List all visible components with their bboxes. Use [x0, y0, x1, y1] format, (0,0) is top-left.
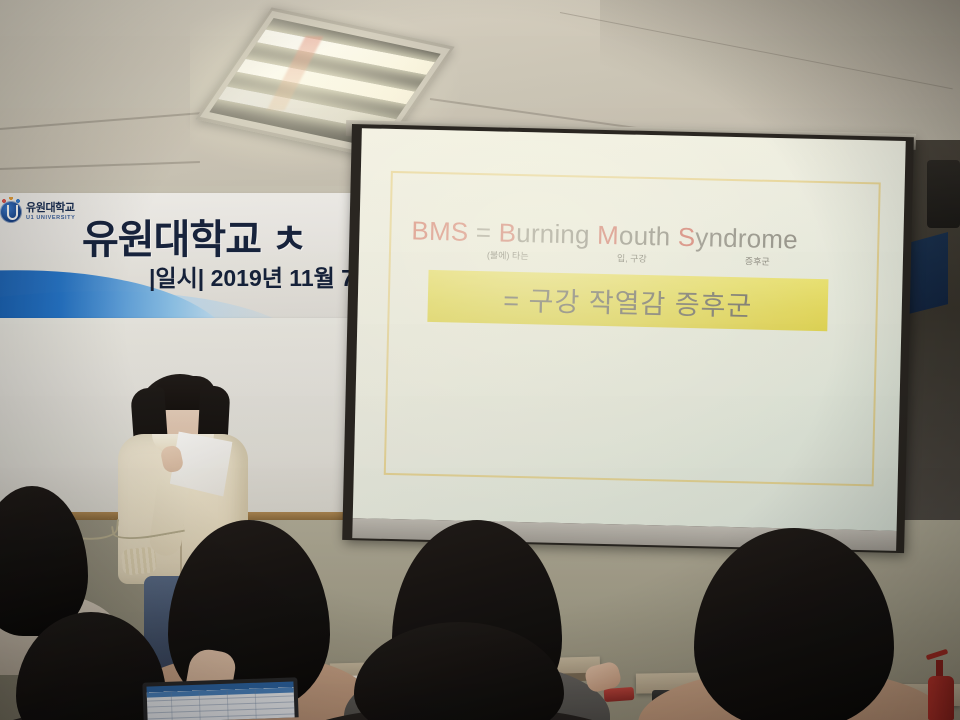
slide-word2-rest: outh [619, 220, 671, 251]
spreadsheet-col [227, 691, 229, 720]
slide-word1-cap: B [498, 217, 516, 247]
slide-word3-rest: yndrome [695, 222, 798, 254]
desk-red-object [604, 687, 635, 702]
audience-hair [354, 622, 564, 720]
university-emblem-icon [0, 201, 22, 223]
laptop-screen[interactable] [146, 681, 294, 720]
spreadsheet-row [147, 707, 294, 713]
slide-equals: = [476, 217, 492, 247]
logo-dots-icon [2, 197, 20, 205]
slide-abbr: BMS [411, 215, 469, 246]
laptop-lid [142, 677, 298, 720]
slide-highlight-text: = 구강 작열감 증후군 [427, 270, 828, 331]
banner-date: |일시| 2019년 11월 7일 [149, 259, 370, 293]
banner-title: 유원대학교 ㅊ [82, 207, 307, 265]
wall-speaker [927, 160, 960, 228]
slide-word3-cap: S [677, 222, 695, 252]
blue-wall-panel [906, 232, 948, 314]
slide-annotation-3: 증후군 [745, 254, 770, 268]
event-banner: 유원대학교 U1 UNIVERSITY 유원대학교 ㅊ |일시| 2019년 1… [0, 193, 370, 323]
screen-surface: BMS = Burning Mouth Syndrome (불에) 타는 입, … [353, 128, 906, 531]
logo-name-korean: 유원대학교 [26, 203, 75, 215]
slide-annotation-2: 입, 구강 [617, 251, 647, 265]
university-logo: 유원대학교 U1 UNIVERSITY [0, 201, 75, 223]
lecture-hall-photo: 유원대학교 U1 UNIVERSITY 유원대학교 ㅊ |일시| 2019년 1… [0, 0, 960, 720]
audience-member [354, 622, 564, 720]
logo-name-english: U1 UNIVERSITY [26, 215, 75, 221]
slide-word2-cap: M [597, 220, 620, 251]
slide-annotation-1: (불에) 타는 [487, 248, 529, 262]
slide-word1-rest: urning [516, 218, 590, 250]
projection-screen: BMS = Burning Mouth Syndrome (불에) 타는 입, … [342, 124, 914, 553]
spreadsheet-col [199, 692, 201, 720]
spreadsheet-row [147, 701, 294, 707]
laptop[interactable] [142, 677, 298, 720]
ceiling-tile-seam [0, 161, 200, 170]
audience-member [694, 528, 894, 720]
presenter-cuff [121, 546, 158, 575]
spreadsheet-col [255, 690, 257, 719]
fire-extinguisher-icon [928, 676, 954, 720]
slide-highlight-box: = 구강 작열감 증후군 [427, 270, 828, 331]
audience-hair [694, 528, 894, 720]
